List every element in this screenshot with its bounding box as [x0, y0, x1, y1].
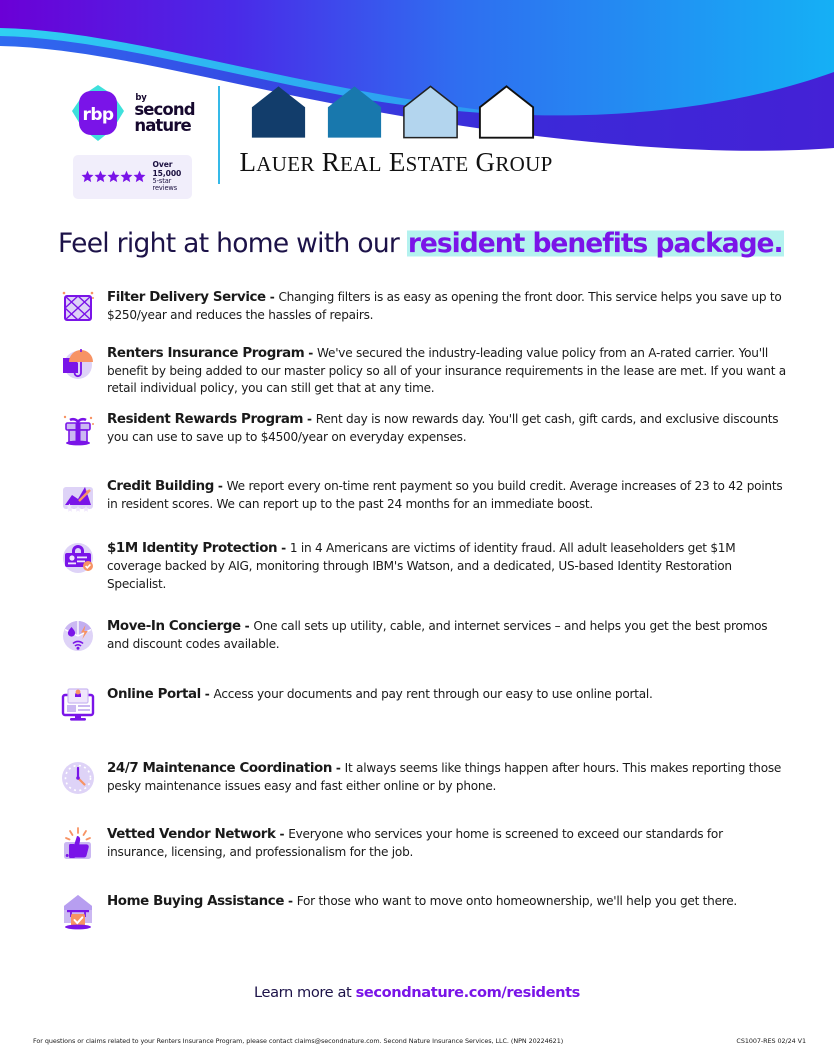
flyer-page: rbp by second nature Over: [0, 0, 834, 1051]
benefit-title: Credit Building: [107, 479, 214, 494]
benefit-title: Vetted Vendor Network: [107, 827, 276, 842]
header-logos: rbp by second nature Over: [58, 82, 553, 199]
benefit-title: Home Buying Assistance: [107, 894, 284, 909]
house-icon-outline: [478, 84, 535, 140]
benefit-text: Resident Rewards Program - Rent day is n…: [107, 407, 786, 446]
benefit-icon-wrap: [56, 474, 100, 518]
house-icon-light: [402, 84, 459, 140]
benefit-dash: -: [266, 290, 279, 304]
benefit-title: Online Portal: [107, 687, 201, 702]
benefit-item: Renters Insurance Program - We've secure…: [56, 341, 786, 397]
second-nature-line2: nature: [134, 118, 194, 134]
benefit-icon-wrap: [56, 614, 100, 658]
monitor-icon: [57, 683, 99, 725]
home-sold-icon: [57, 890, 99, 932]
star-icon: [94, 170, 107, 183]
benefit-icon-wrap: [56, 285, 100, 329]
benefit-item: 24/7 Maintenance Coordination - It alway…: [56, 756, 786, 800]
reviews-label: 5-star reviews: [153, 178, 183, 193]
headline-highlight: resident benefits package.: [407, 228, 784, 259]
benefit-text: Online Portal - Access your documents an…: [107, 682, 653, 704]
house-icons-row: [250, 84, 553, 140]
rbp-badge-shape: rbp: [69, 82, 127, 144]
reviews-count: Over 15,000: [153, 161, 183, 178]
benefit-dash: -: [201, 687, 214, 701]
benefit-dash: -: [241, 619, 254, 633]
benefit-icon-wrap: [56, 889, 100, 933]
benefit-text: Filter Delivery Service - Changing filte…: [107, 285, 786, 324]
benefit-icon-wrap: [56, 407, 100, 451]
benefit-text: Vetted Vendor Network - Everyone who ser…: [107, 822, 786, 861]
page-title: Feel right at home with our resident ben…: [58, 228, 788, 259]
umbrella-icon: [57, 342, 99, 384]
legal-fineprint: For questions or claims related to your …: [33, 1037, 563, 1045]
credit-chart-icon: [57, 475, 99, 517]
benefit-icon-wrap: [56, 536, 100, 580]
benefit-title: Filter Delivery Service: [107, 290, 266, 305]
benefits-list: Filter Delivery Service - Changing filte…: [56, 285, 786, 933]
rbp-second-nature-logo: rbp by second nature Over: [58, 82, 206, 199]
benefit-text: Credit Building - We report every on-tim…: [107, 474, 786, 513]
star-icon: [133, 170, 146, 183]
second-nature-wordmark: by second nature: [134, 92, 194, 133]
benefit-dash: -: [284, 894, 297, 908]
benefit-dash: -: [304, 346, 317, 360]
benefit-icon-wrap: [56, 341, 100, 385]
benefit-title: 24/7 Maintenance Coordination: [107, 761, 332, 776]
gift-icon: [57, 408, 99, 450]
lauer-wordmark: LAUER REAL ESTATE GROUP: [240, 147, 553, 178]
svg-text:rbp: rbp: [83, 105, 114, 125]
document-code: CS1007-RES 02/24 V1: [736, 1037, 806, 1045]
clock-icon: [57, 757, 99, 799]
lauer-real-estate-logo: LAUER REAL ESTATE GROUP: [240, 82, 553, 178]
benefit-title: Resident Rewards Program: [107, 412, 303, 427]
id-lock-icon: [57, 537, 99, 579]
benefit-dash: -: [276, 827, 289, 841]
benefit-title: Move-In Concierge: [107, 619, 241, 634]
benefit-icon-wrap: [56, 756, 100, 800]
learn-more-line: Learn more at secondnature.com/residents: [0, 984, 834, 1001]
reviews-text: Over 15,000 5-star reviews: [153, 161, 183, 193]
thumbs-up-icon: [57, 823, 99, 865]
rbp-logo-mark: rbp: [69, 82, 127, 144]
benefit-dash: -: [303, 412, 316, 426]
benefit-title: $1M Identity Protection: [107, 541, 277, 556]
benefit-text: Renters Insurance Program - We've secure…: [107, 341, 786, 397]
benefit-item: Online Portal - Access your documents an…: [56, 682, 786, 726]
benefit-text: Move-In Concierge - One call sets up uti…: [107, 614, 786, 653]
benefit-item: Home Buying Assistance - For those who w…: [56, 889, 786, 933]
reviews-badge: Over 15,000 5-star reviews: [73, 155, 192, 199]
headline-plain: Feel right at home with our: [58, 228, 407, 259]
benefit-item: Move-In Concierge - One call sets up uti…: [56, 614, 786, 658]
star-icon: [120, 170, 133, 183]
benefit-dash: -: [332, 761, 345, 775]
logo-divider: [218, 86, 220, 184]
benefit-text: Home Buying Assistance - For those who w…: [107, 889, 737, 911]
benefit-dash: -: [214, 479, 227, 493]
benefit-text: $1M Identity Protection - 1 in 4 America…: [107, 536, 786, 592]
benefit-icon-wrap: [56, 682, 100, 726]
benefit-icon-wrap: [56, 822, 100, 866]
benefit-item: Vetted Vendor Network - Everyone who ser…: [56, 822, 786, 866]
star-rating: [81, 170, 146, 183]
benefit-item: Resident Rewards Program - Rent day is n…: [56, 407, 786, 451]
star-icon: [81, 170, 94, 183]
benefit-item: Filter Delivery Service - Changing filte…: [56, 285, 786, 329]
star-icon: [107, 170, 120, 183]
benefit-text: 24/7 Maintenance Coordination - It alway…: [107, 756, 786, 795]
secondnature-link[interactable]: secondnature.com/residents: [356, 984, 580, 1001]
learn-more-prefix: Learn more at: [254, 984, 356, 1001]
benefit-dash: -: [277, 541, 290, 555]
filter-icon: [57, 286, 99, 328]
benefit-item: Credit Building - We report every on-tim…: [56, 474, 786, 518]
house-icon-medium: [326, 84, 383, 140]
utilities-icon: [57, 615, 99, 657]
benefit-item: $1M Identity Protection - 1 in 4 America…: [56, 536, 786, 592]
house-icon-dark: [250, 84, 307, 140]
benefit-body: Access your documents and pay rent throu…: [214, 687, 653, 701]
benefit-body: For those who want to move onto homeowne…: [297, 894, 737, 908]
benefit-title: Renters Insurance Program: [107, 346, 304, 361]
